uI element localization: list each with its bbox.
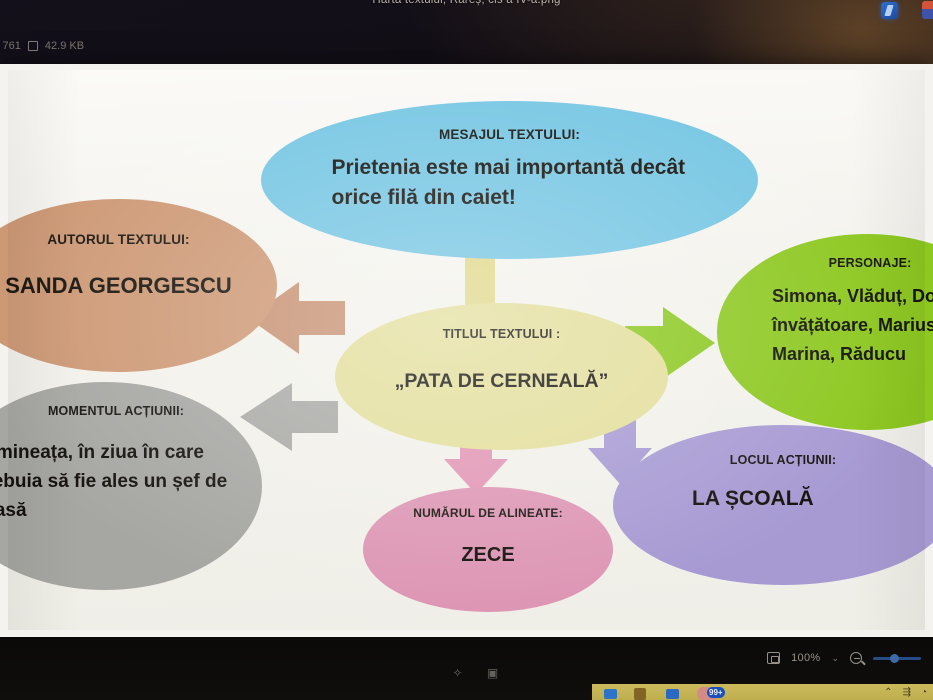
text-map-diagram: MESAJUL TEXTULUI: Prietenia este mai imp… <box>8 70 925 630</box>
tray-chevron-up-icon[interactable]: ⌃ <box>884 687 892 698</box>
zoom-level-value[interactable]: 100% <box>791 652 820 664</box>
file-icon <box>28 41 38 51</box>
viewer-tools: ✧ ▣ <box>450 665 500 680</box>
node-characters-value: Simona, Vlăduț, Doamna învățătoare, Mari… <box>742 282 933 369</box>
notification-badge: 99+ <box>707 687 725 698</box>
node-title[interactable]: TITLUL TEXTULUI : „PATA DE CERNEALĂ” <box>335 303 668 450</box>
node-message-caption: MESAJUL TEXTULUI: <box>439 127 580 142</box>
node-title-value: „PATA DE CERNEALĂ” <box>395 370 609 393</box>
zoom-slider-knob[interactable] <box>890 654 899 663</box>
people-icon[interactable] <box>922 1 933 19</box>
fit-to-window-icon[interactable]: ▣ <box>485 665 500 680</box>
zoom-out-icon[interactable] <box>850 652 862 664</box>
rotate-icon[interactable]: ✧ <box>450 665 465 680</box>
node-time-caption: MOMENTUL ACȚIUNII: <box>26 404 184 418</box>
node-paragraphs-value: ZECE <box>461 544 514 567</box>
window-title: Harta textului, Rareș, cls a IV-a.png <box>372 0 560 6</box>
node-author-caption: AUTORUL TEXTULUI: <box>47 232 189 247</box>
window-titlebar: Harta textului, Rareș, cls a IV-a.png <box>0 0 933 18</box>
taskbar-app-2-icon[interactable] <box>634 688 646 700</box>
node-title-caption: TITLUL TEXTULUI : <box>443 327 561 341</box>
node-message-value: Prietenia este mai importantă decât oric… <box>310 153 710 213</box>
node-paragraphs-caption: NUMĂRUL DE ALINEATE: <box>413 506 562 520</box>
system-tray: ⌃ ⇶ ◔ <box>884 687 927 698</box>
tray-volume-icon[interactable]: ◔ <box>921 687 927 698</box>
image-viewer-canvas[interactable]: MESAJUL TEXTULUI: Prietenia este mai imp… <box>0 64 933 637</box>
actual-size-icon[interactable] <box>767 652 780 664</box>
os-taskbar: 99+ ⌃ ⇶ ◔ <box>592 684 933 700</box>
tray-network-icon[interactable]: ⇶ <box>903 687 911 698</box>
node-message[interactable]: MESAJUL TEXTULUI: Prietenia este mai imp… <box>261 101 758 259</box>
chevron-down-icon[interactable]: ⌄ <box>831 653 839 664</box>
taskbar-app-3-icon[interactable] <box>666 689 679 699</box>
image-status-info: x 761 42.9 KB <box>0 40 84 52</box>
image-filesize: 42.9 KB <box>45 40 84 52</box>
taskbar-app-1-icon[interactable] <box>604 689 617 699</box>
node-place-value: LA ȘCOALĂ <box>658 487 908 511</box>
node-place-caption: LOCUL ACȚIUNII: <box>730 453 836 467</box>
node-place[interactable]: LOCUL ACȚIUNII: LA ȘCOALĂ <box>613 425 933 585</box>
node-time-value: dimineața, în ziua în care trebuia să fi… <box>0 439 235 526</box>
node-author-value: SANDA GEORGESCU <box>5 273 232 299</box>
node-characters-caption: PERSONAJE: <box>823 256 912 270</box>
arrow-left-time <box>240 383 338 451</box>
edge-icon[interactable] <box>881 2 898 19</box>
zoom-controls: 100% ⌄ <box>767 652 921 664</box>
image-dimensions: x 761 <box>0 40 21 52</box>
zoom-slider[interactable] <box>873 657 921 660</box>
node-paragraphs[interactable]: NUMĂRUL DE ALINEATE: ZECE <box>363 487 613 612</box>
